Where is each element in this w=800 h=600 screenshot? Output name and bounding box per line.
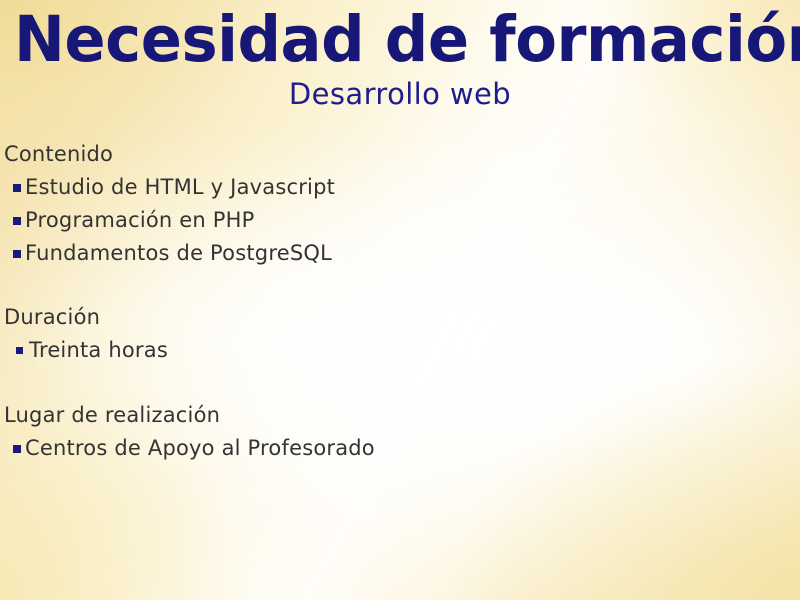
presentation-slide: Necesidad de formación Desarrollo web Co… xyxy=(0,0,800,600)
list-item-label: Treinta horas xyxy=(29,334,168,367)
list-item-label: Fundamentos de PostgreSQL xyxy=(25,237,332,270)
list-item: Programación en PHP xyxy=(0,204,760,237)
list-item: Treinta horas xyxy=(0,334,760,367)
section-contenido: Contenido Estudio de HTML y Javascript P… xyxy=(0,138,760,270)
slide-content: Necesidad de formación Desarrollo web Co… xyxy=(0,0,800,600)
square-bullet-icon xyxy=(13,445,21,453)
section-spacer xyxy=(0,270,760,301)
list-item: Centros de Apoyo al Profesorado xyxy=(0,432,760,465)
section-heading: Lugar de realización xyxy=(0,399,760,432)
slide-subtitle: Desarrollo web xyxy=(0,76,800,112)
list-item: Fundamentos de PostgreSQL xyxy=(0,237,760,270)
list-item-label: Estudio de HTML y Javascript xyxy=(25,171,335,204)
section-lugar: Lugar de realización Centros de Apoyo al… xyxy=(0,399,760,465)
square-bullet-icon xyxy=(13,250,21,258)
section-heading: Duración xyxy=(0,301,760,334)
list-item-label: Centros de Apoyo al Profesorado xyxy=(25,432,375,465)
square-bullet-icon xyxy=(13,184,21,192)
slide-body: Contenido Estudio de HTML y Javascript P… xyxy=(0,138,760,465)
square-bullet-icon xyxy=(13,217,21,225)
square-bullet-icon xyxy=(16,347,23,354)
section-heading: Contenido xyxy=(0,138,760,171)
list-item: Estudio de HTML y Javascript xyxy=(0,171,760,204)
slide-title: Necesidad de formación xyxy=(14,4,786,76)
section-spacer xyxy=(0,367,760,399)
list-item-label: Programación en PHP xyxy=(25,204,255,237)
section-duracion: Duración Treinta horas xyxy=(0,301,760,367)
